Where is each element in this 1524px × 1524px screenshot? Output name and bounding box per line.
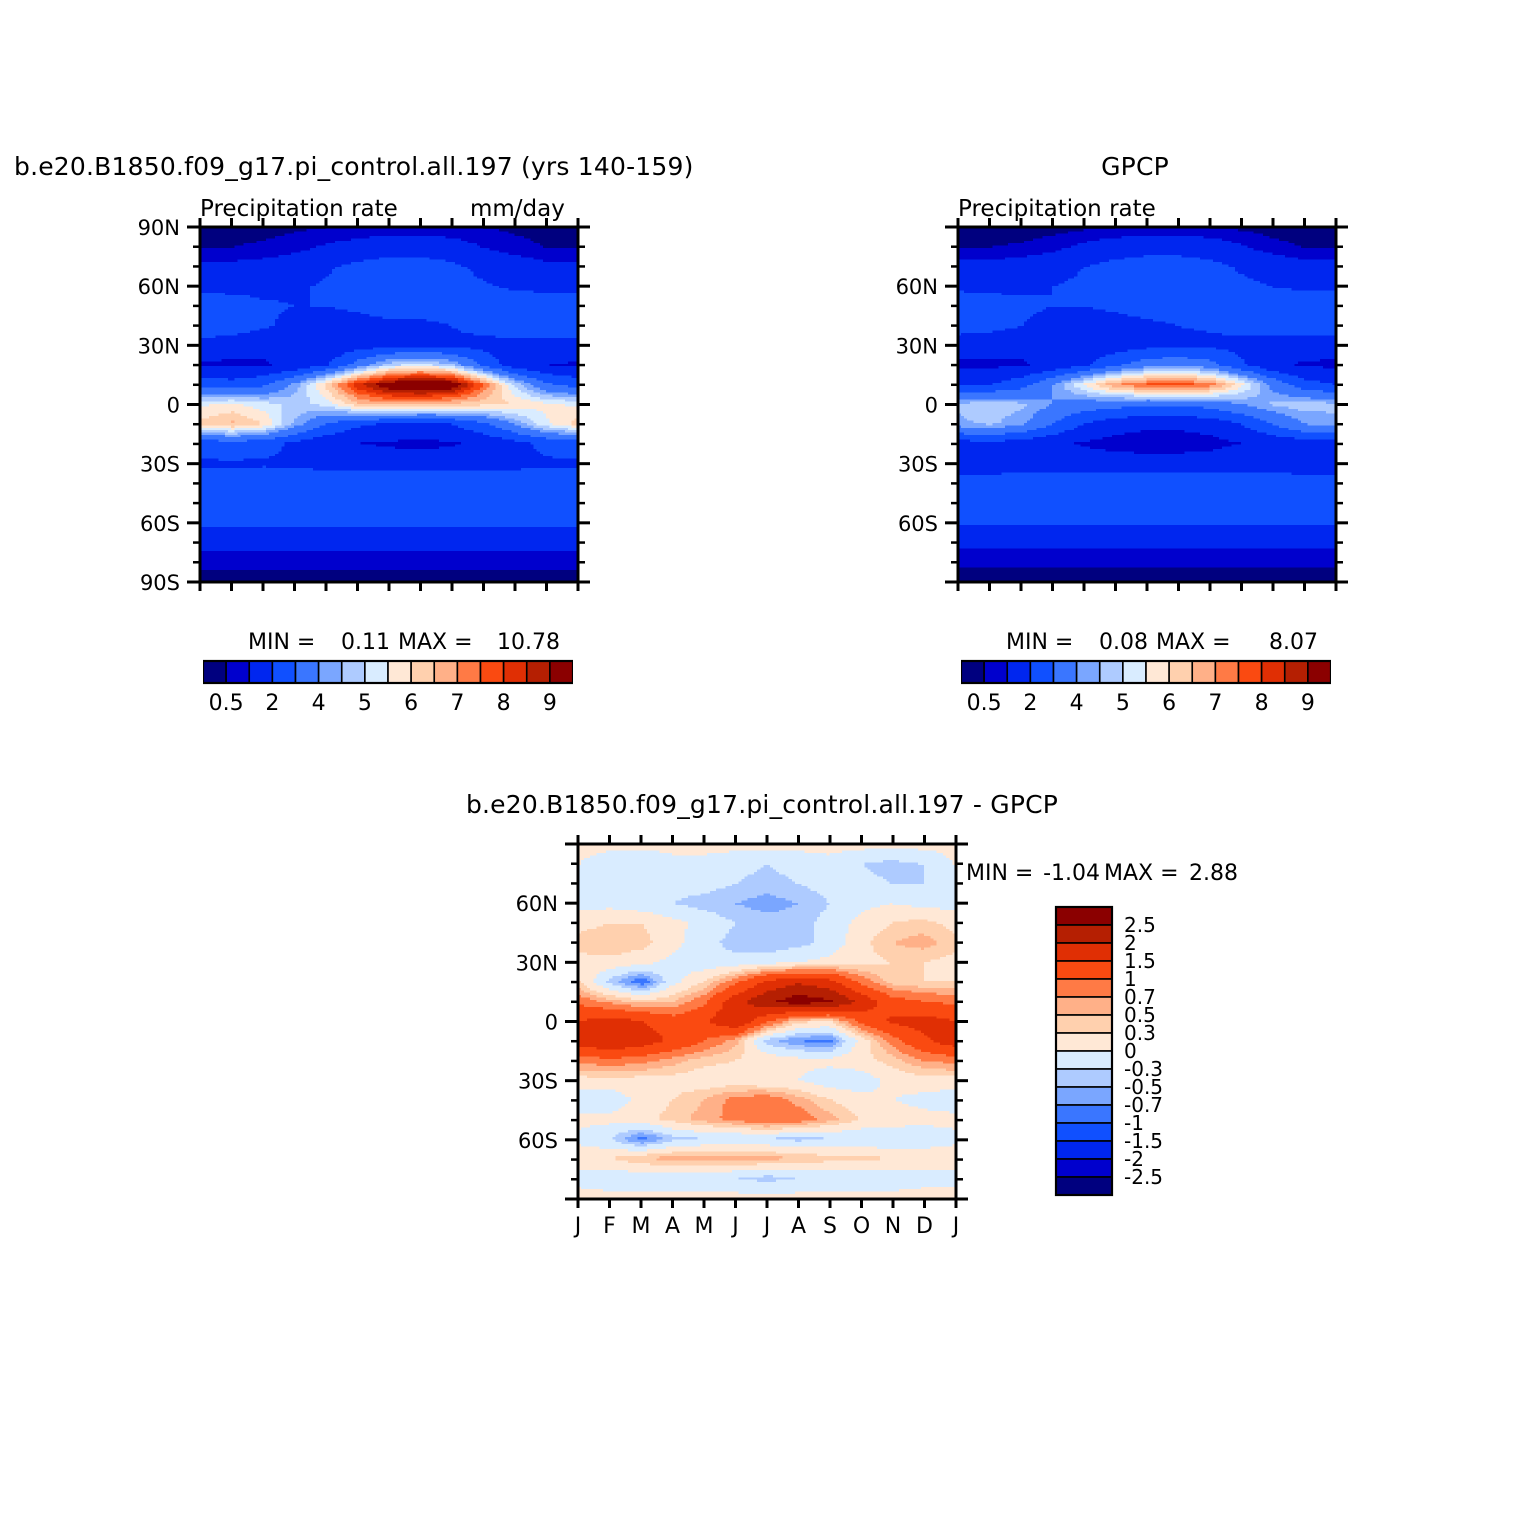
diff-colorbar[interactable] (1052, 903, 1116, 1199)
diff-max-label: MAX = (1104, 861, 1179, 886)
obs-max-label: MAX = (1156, 630, 1231, 655)
obs-panel-title: GPCP (1101, 152, 1169, 181)
diff-colorbar-labels: 2.521.510.70.50.30-0.3-0.5-0.7-1-1.5-2-2… (1118, 903, 1228, 1203)
obs-colorbar[interactable] (961, 657, 1331, 687)
diff-max-value: 2.88 (1189, 861, 1238, 886)
diff-min-label: MIN = (966, 861, 1033, 886)
model-min-label: MIN = (248, 630, 315, 655)
model-panel-title: b.e20.B1850.f09_g17.pi_control.all.197 (… (14, 152, 694, 181)
obs-max-value: 8.07 (1269, 630, 1318, 655)
diff-panel-title: b.e20.B1850.f09_g17.pi_control.all.197 -… (466, 790, 1058, 819)
obs-min-value: 0.08 (1099, 630, 1148, 655)
model-colorbar-labels: 0.52456789 (203, 688, 573, 718)
model-colorbar[interactable] (203, 657, 573, 687)
model-plot[interactable]: JFMAMJJASONDJ90N60N30N030S60S90S (130, 215, 590, 595)
model-max-label: MAX = (398, 630, 473, 655)
obs-min-label: MIN = (1006, 630, 1073, 655)
model-max-value: 10.78 (497, 630, 560, 655)
obs-plot[interactable]: JFMAMJJASONDJ60N30N030S60S (888, 215, 1348, 595)
diff-min-value: -1.04 (1043, 861, 1100, 886)
obs-colorbar-labels: 0.52456789 (961, 688, 1331, 718)
model-min-value: 0.11 (341, 630, 390, 655)
diff-plot[interactable]: JFMAMJJASONDJ60N30N030S60S (498, 830, 968, 1250)
